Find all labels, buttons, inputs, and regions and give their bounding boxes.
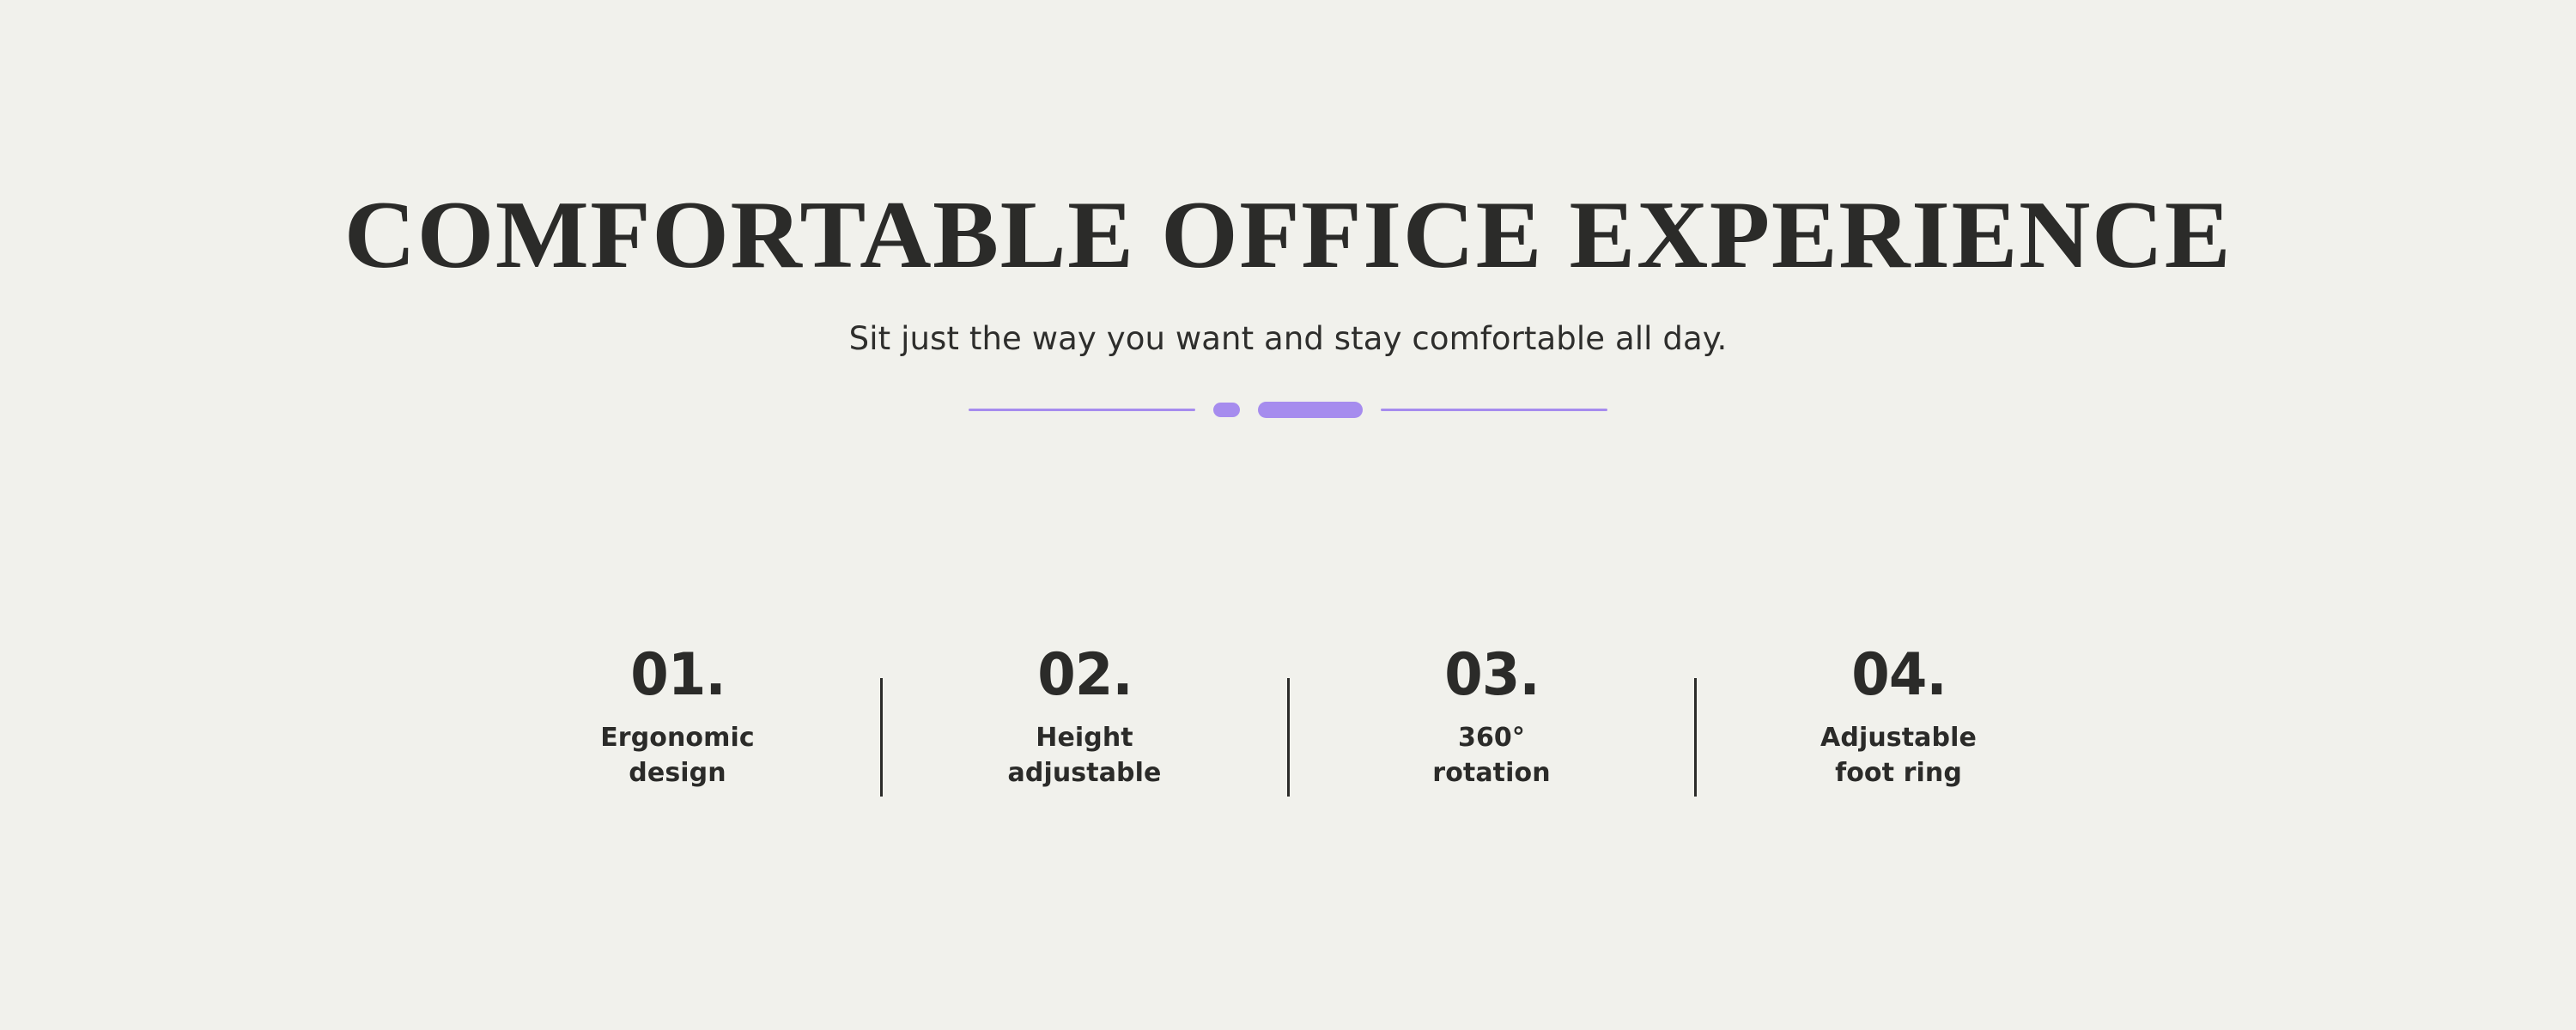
feature-label: Height adjustable <box>963 720 1207 791</box>
page-subtitle: Sit just the way you want and stay comfo… <box>0 319 2576 359</box>
page-title: COMFORTABLE OFFICE EXPERIENCE <box>0 187 2576 283</box>
feature-label-line-1: Ergonomic <box>556 720 800 755</box>
feature-number: 02. <box>969 645 1200 706</box>
feature-label-line-2: design <box>556 755 800 791</box>
feature-label-line-2: adjustable <box>963 755 1207 791</box>
feature-item-2: 02. Height adjustable <box>963 645 1207 791</box>
feature-item-1: 01. Ergonomic design <box>556 645 800 791</box>
divider-dot-icon <box>1213 403 1240 417</box>
feature-number: 04. <box>1783 645 2014 706</box>
feature-label-line-1: Height <box>963 720 1207 755</box>
feature-label-line-1: 360° <box>1370 720 1614 755</box>
feature-item-3: 03. 360° rotation <box>1370 645 1614 791</box>
feature-label-line-2: foot ring <box>1777 755 2021 791</box>
divider-pill-icon <box>1258 402 1363 418</box>
feature-label-line-2: rotation <box>1370 755 1614 791</box>
divider-line-right <box>1381 409 1607 411</box>
decorative-divider <box>969 400 1607 419</box>
feature-number: 03. <box>1376 645 1607 706</box>
feature-item-4: 04. Adjustable foot ring <box>1777 645 2021 791</box>
feature-label-line-1: Adjustable <box>1777 720 2021 755</box>
feature-number: 01. <box>562 645 793 706</box>
feature-label: Ergonomic design <box>556 720 800 791</box>
feature-separator-3 <box>1694 678 1697 797</box>
divider-line-left <box>969 409 1195 411</box>
feature-separator-1 <box>880 678 883 797</box>
feature-separator-2 <box>1287 678 1290 797</box>
page-root: COMFORTABLE OFFICE EXPERIENCE Sit just t… <box>0 0 2576 1030</box>
feature-list: 01. Ergonomic design 02. Height adjustab… <box>472 645 2104 817</box>
feature-label: Adjustable foot ring <box>1777 720 2021 791</box>
feature-label: 360° rotation <box>1370 720 1614 791</box>
